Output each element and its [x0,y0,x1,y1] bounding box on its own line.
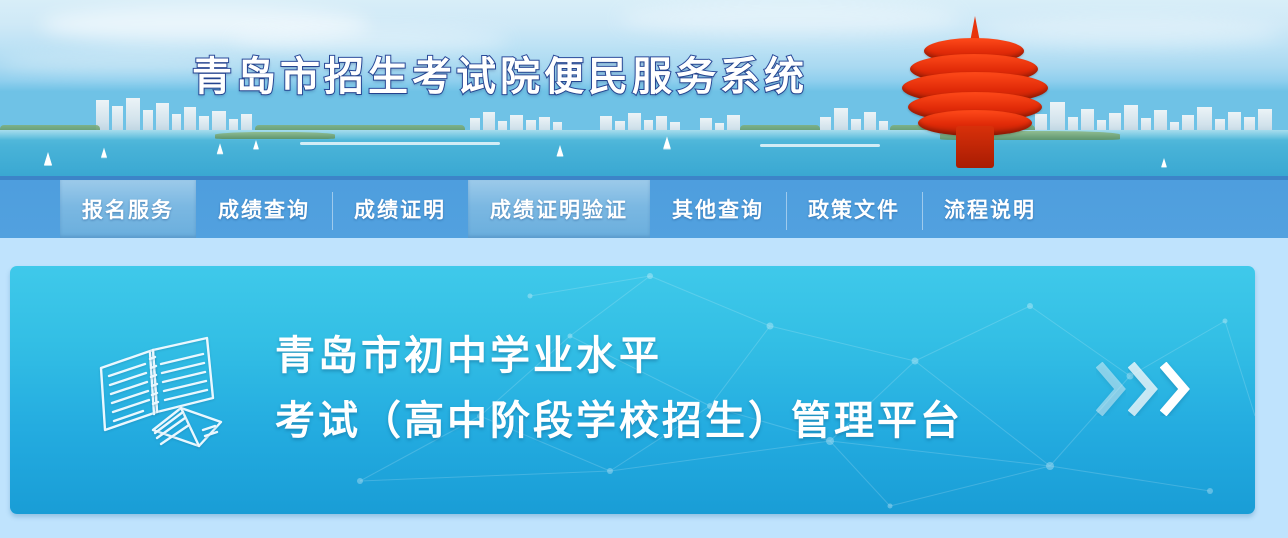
nav-item-label: 报名服务 [82,194,174,224]
banner-headline: 青岛市初中学业水平 考试（高中阶段学校招生）管理平台 [275,324,963,454]
nav-item-other-query[interactable]: 其他查询 [650,180,786,238]
nav-item-score-certificate[interactable]: 成绩证明 [332,180,468,238]
nav-item-label: 其他查询 [672,194,764,224]
chevron-right-icon [1096,362,1126,416]
chevron-right-icon [1128,362,1158,416]
nav-item-score-certificate-verify[interactable]: 成绩证明验证 [468,180,650,238]
page-title: 青岛市招生考试院便民服务系统 [0,44,1000,102]
banner-headline-line2: 考试（高中阶段学校招生）管理平台 [275,389,963,454]
triple-chevron-right-icon[interactable] [1096,362,1190,416]
nav-item-policy-documents[interactable]: 政策文件 [786,180,922,238]
site-header-banner: 青岛市招生考试院便民服务系统 [0,0,1288,176]
nav-item-label: 流程说明 [944,194,1036,224]
nav-item-label: 成绩证明 [354,194,446,224]
content-area: 青岛市初中学业水平 考试（高中阶段学校招生）管理平台 [0,238,1288,538]
nav-item-score-query[interactable]: 成绩查询 [196,180,332,238]
nav-item-label: 政策文件 [808,194,900,224]
platform-entry-banner[interactable]: 青岛市初中学业水平 考试（高中阶段学校招生）管理平台 [10,266,1255,514]
main-navigation: 报名服务 成绩查询 成绩证明 成绩证明验证 其他查询 政策文件 流程说明 [0,176,1288,238]
nav-item-label: 成绩证明验证 [490,194,628,224]
open-book-icon [95,326,235,456]
nav-item-process-description[interactable]: 流程说明 [922,180,1058,238]
sea-water [0,130,1288,176]
nav-item-registration-service[interactable]: 报名服务 [60,180,196,238]
banner-headline-line1: 青岛市初中学业水平 [275,324,963,389]
nav-item-label: 成绩查询 [218,194,310,224]
chevron-right-icon [1160,362,1190,416]
